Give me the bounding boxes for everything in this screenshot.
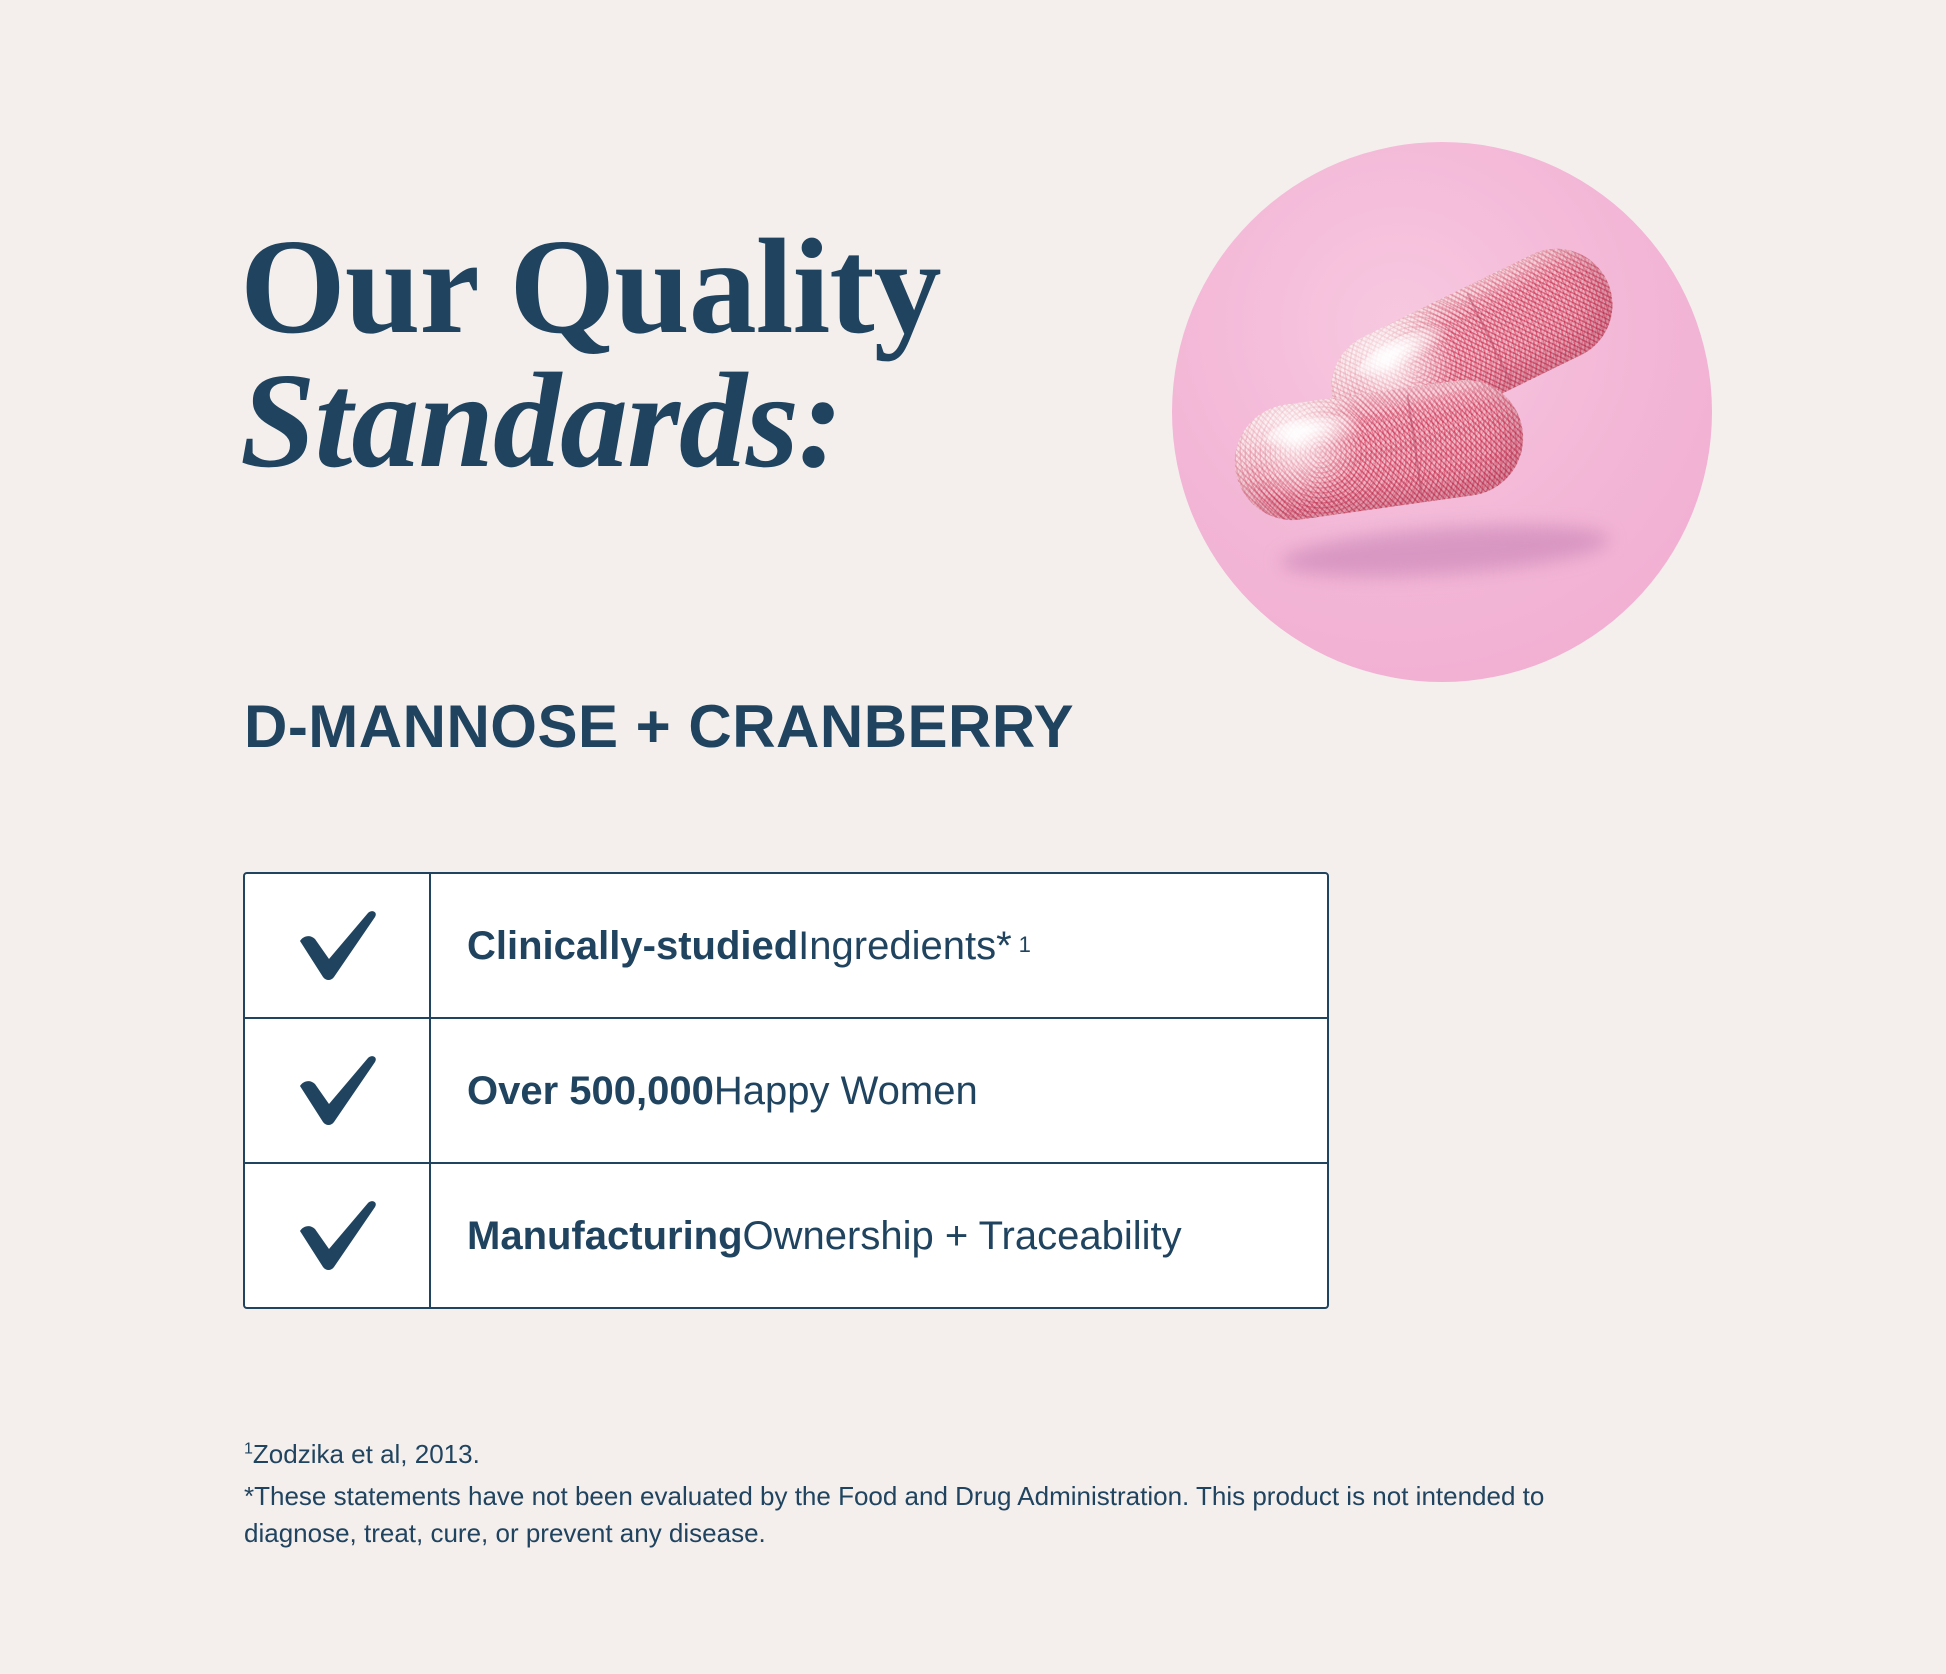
- standard-label: Over 500,000 Happy Women: [431, 1019, 1327, 1162]
- standard-label: Manufacturing Ownership + Traceability: [431, 1164, 1327, 1307]
- capsule-front: [1227, 372, 1530, 527]
- capsule-shadow: [1279, 517, 1611, 586]
- product-subtitle: D-MANNOSE + CRANBERRY: [244, 692, 1074, 761]
- quality-standards-panel: Our Quality Standards: D-MANNOSE + CRANB…: [0, 0, 1946, 1674]
- page-title-line-1: Our Quality: [240, 217, 1140, 358]
- table-row: Over 500,000 Happy Women: [245, 1019, 1327, 1164]
- page-title: Our Quality Standards:: [240, 217, 1140, 492]
- standard-label-rest: Happy Women: [714, 1067, 978, 1115]
- standard-label-superscript: 1: [1019, 932, 1031, 958]
- capsule-gloss: [1264, 410, 1366, 454]
- page-title-line-2: Standards:: [240, 351, 1140, 492]
- standards-table: Clinically-studied Ingredients*1 Over 50…: [243, 872, 1329, 1309]
- hero-circle: [1172, 142, 1712, 682]
- footnote-reference-marker: 1: [244, 1440, 253, 1457]
- table-row: Manufacturing Ownership + Traceability: [245, 1164, 1327, 1307]
- standard-label-bold: Over 500,000: [467, 1067, 714, 1115]
- table-row: Clinically-studied Ingredients*1: [245, 874, 1327, 1019]
- standard-label-rest: Ingredients*: [798, 922, 1011, 970]
- capsule-seam: [1406, 394, 1422, 495]
- standard-label-bold: Manufacturing: [467, 1212, 743, 1260]
- footnote-reference-text: Zodzika et al, 2013.: [253, 1439, 480, 1469]
- check-cell: [245, 1019, 431, 1162]
- capsule-gloss: [1352, 315, 1456, 386]
- check-cell: [245, 874, 431, 1017]
- standard-label-rest: Ownership + Traceability: [743, 1212, 1182, 1260]
- check-cell: [245, 1164, 431, 1307]
- footnote-disclaimer: *These statements have not been evaluate…: [244, 1478, 1589, 1553]
- standard-label: Clinically-studied Ingredients*1: [431, 874, 1327, 1017]
- footnote-reference: 1Zodzika et al, 2013.: [244, 1436, 1644, 1474]
- capsule-seam: [1467, 293, 1512, 382]
- footnotes: 1Zodzika et al, 2013. *These statements …: [244, 1436, 1644, 1553]
- checkmark-icon: [294, 1197, 380, 1275]
- checkmark-icon: [294, 1052, 380, 1130]
- checkmark-icon: [294, 907, 380, 985]
- standard-label-bold: Clinically-studied: [467, 922, 798, 970]
